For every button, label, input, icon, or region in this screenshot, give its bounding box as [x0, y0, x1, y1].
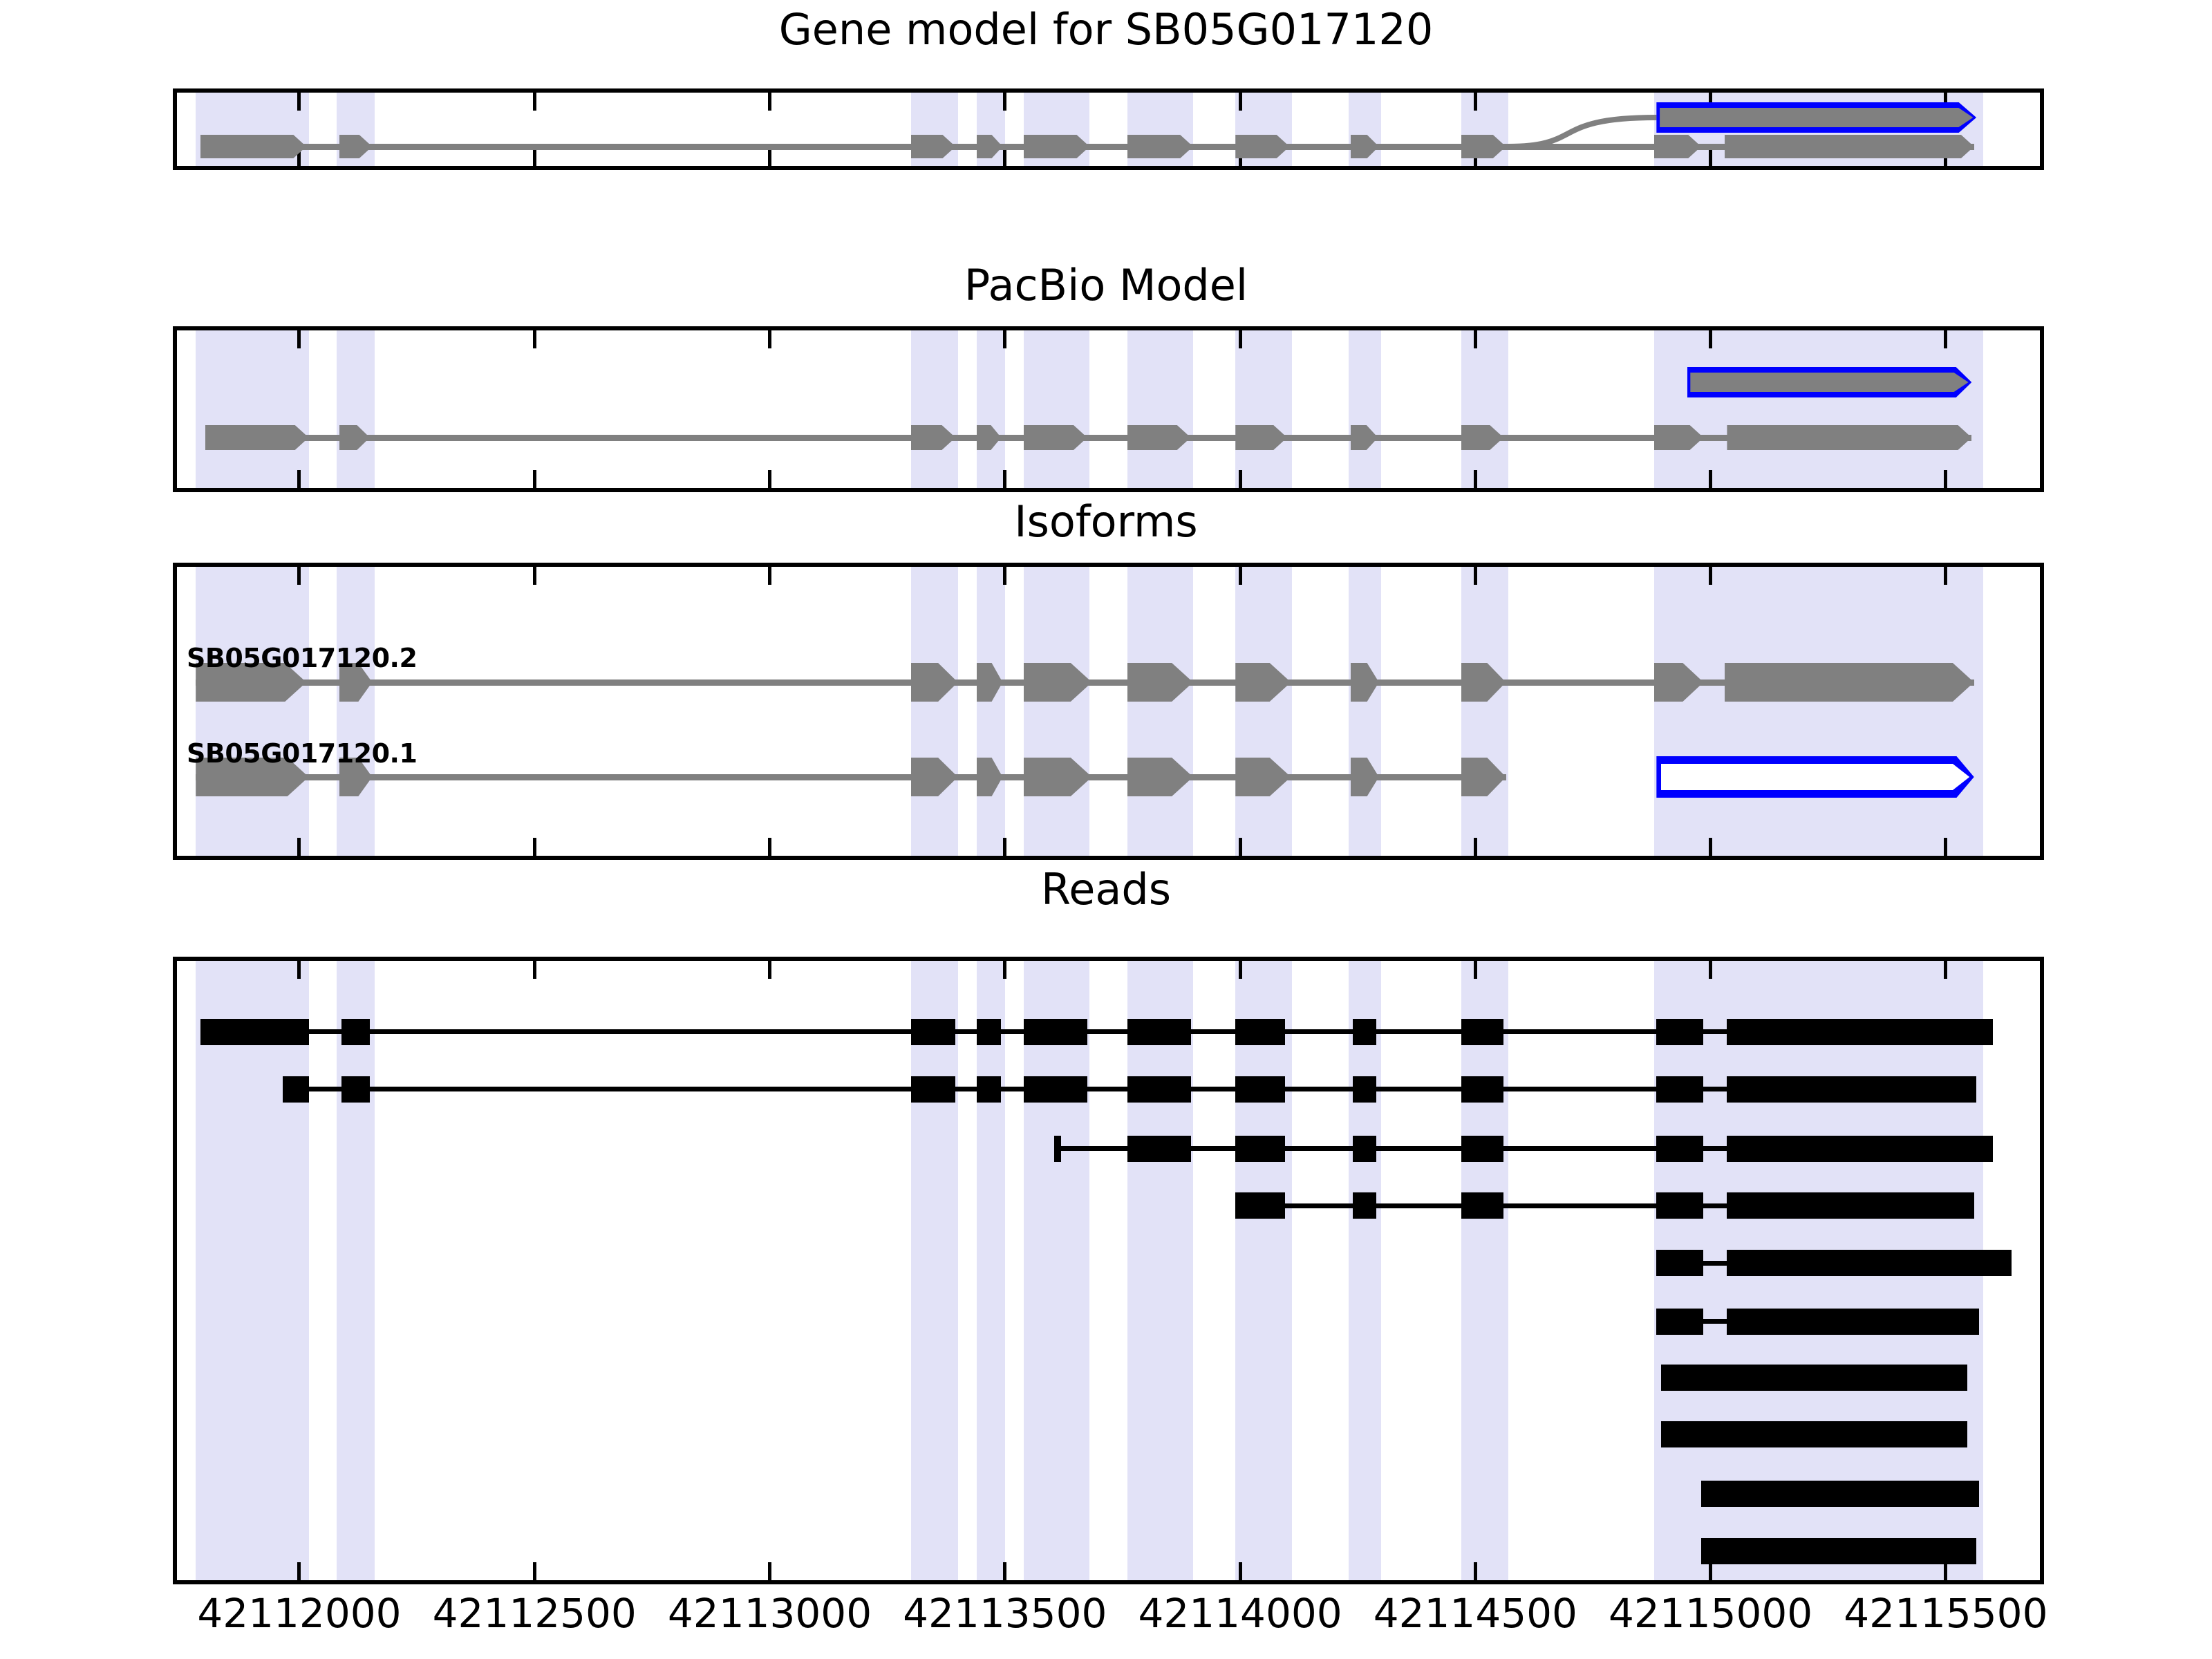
- read-block: [1353, 1076, 1376, 1103]
- highlight-band: [337, 330, 374, 488]
- highlight-band: [337, 567, 374, 856]
- isoform-label: SB05G017120.1: [187, 738, 417, 769]
- highlight-band: [1127, 330, 1193, 488]
- axis-tick-top: [297, 330, 301, 348]
- axis-tick-bottom: [297, 838, 301, 856]
- axis-tick-top: [533, 330, 536, 348]
- panel-title-gene-model: Gene model for SB05G017120: [0, 4, 2212, 55]
- read-block: [1024, 1076, 1087, 1103]
- axis-tick-bottom: [1709, 470, 1712, 488]
- read-block: [1661, 1421, 1967, 1447]
- read-block: [1701, 1481, 1979, 1507]
- highlight-band: [196, 961, 308, 1580]
- x-axis-tick-label: 42112500: [433, 1590, 637, 1637]
- read-block: [1353, 1019, 1376, 1045]
- axis-tick-bottom: [1003, 470, 1006, 488]
- read-block: [1235, 1192, 1284, 1219]
- read-block: [1353, 1192, 1376, 1219]
- axis-tick-top: [297, 961, 301, 979]
- highlight-band: [1461, 330, 1508, 488]
- highlight-band: [1349, 961, 1382, 1580]
- highlight-band: [1461, 567, 1508, 856]
- panel-pacbio-model[interactable]: [173, 326, 2044, 492]
- read-block: [1727, 1076, 1976, 1103]
- axis-tick-top: [1474, 330, 1477, 348]
- highlight-band: [1654, 567, 1983, 856]
- read-block: [1461, 1019, 1503, 1045]
- highlight-band: [196, 567, 308, 856]
- genome-browser-figure: Gene model for SB05G017120 PacBio Model …: [0, 0, 2212, 1659]
- read-block: [911, 1019, 956, 1045]
- axis-tick-top: [533, 567, 536, 585]
- axis-tick-bottom: [1944, 838, 1947, 856]
- orf-inner-fill: [1690, 373, 1968, 392]
- x-axis-tick-label: 42113500: [903, 1590, 1107, 1637]
- axis-tick-bottom: [768, 1562, 771, 1580]
- read-block: [1727, 1309, 1978, 1335]
- read-block: [1235, 1019, 1284, 1045]
- read-block: [1127, 1136, 1191, 1162]
- highlight-band: [977, 330, 1005, 488]
- read-block: [977, 1076, 1001, 1103]
- highlight-band: [337, 961, 374, 1580]
- axis-tick-bottom: [1474, 1562, 1477, 1580]
- highlight-band: [1235, 567, 1292, 856]
- axis-tick-top: [1944, 567, 1947, 585]
- axis-tick-bottom: [1239, 1562, 1242, 1580]
- read-block: [911, 1076, 956, 1103]
- highlight-band: [977, 567, 1005, 856]
- highlight-band: [1461, 961, 1508, 1580]
- x-axis-tick-label: 42114500: [1374, 1590, 1577, 1637]
- axis-tick-bottom: [1474, 838, 1477, 856]
- exon-block: [1127, 135, 1193, 158]
- axis-tick-top: [1474, 567, 1477, 585]
- x-axis-tick-label: 42112000: [197, 1590, 401, 1637]
- highlight-band: [1024, 567, 1089, 856]
- read-block: [1727, 1019, 1993, 1045]
- axis-tick-top: [1944, 330, 1947, 348]
- axis-tick-top: [1944, 961, 1947, 979]
- panel-title-isoforms: Isoforms: [0, 496, 2212, 547]
- axis-tick-top: [1239, 330, 1242, 348]
- axis-tick-bottom: [1709, 838, 1712, 856]
- orf-inner-fill: [1661, 764, 1969, 790]
- exon-block: [1725, 663, 1974, 702]
- read-block: [1661, 1365, 1967, 1391]
- axis-tick-top: [1239, 961, 1242, 979]
- axis-tick-bottom: [1944, 470, 1947, 488]
- axis-tick-top: [1003, 330, 1006, 348]
- panel-title-reads: Reads: [0, 864, 2212, 915]
- x-axis-tick-label: 42113000: [668, 1590, 872, 1637]
- exon-block: [1725, 135, 1974, 158]
- read-block: [1127, 1076, 1191, 1103]
- highlight-band: [1235, 330, 1292, 488]
- highlight-band: [1127, 961, 1193, 1580]
- read-block: [341, 1076, 370, 1103]
- read-block: [1353, 1136, 1376, 1162]
- panel-gene-model[interactable]: [173, 88, 2044, 170]
- read-block: [1656, 1250, 1703, 1276]
- axis-tick-bottom: [1474, 470, 1477, 488]
- axis-tick-bottom: [768, 470, 771, 488]
- intron-backbone: [200, 1029, 1993, 1034]
- read-block: [1701, 1538, 1976, 1564]
- axis-tick-bottom: [1239, 838, 1242, 856]
- axis-tick-top: [1709, 330, 1712, 348]
- axis-tick-top: [1003, 567, 1006, 585]
- read-block: [1727, 1250, 2012, 1276]
- x-axis-tick-label: 42115000: [1609, 1590, 1812, 1637]
- axis-tick-bottom: [297, 470, 301, 488]
- highlight-band: [1024, 330, 1089, 488]
- highlight-band: [977, 961, 1005, 1580]
- read-block: [1656, 1076, 1703, 1103]
- read-block: [1461, 1192, 1503, 1219]
- exon-block: [200, 135, 306, 158]
- axis-tick-bottom: [533, 470, 536, 488]
- read-block: [1656, 1136, 1703, 1162]
- highlight-band: [1349, 330, 1382, 488]
- axis-tick-bottom: [1003, 1562, 1006, 1580]
- read-block: [1656, 1309, 1703, 1335]
- read-block: [283, 1076, 308, 1103]
- highlight-band: [1127, 567, 1193, 856]
- axis-tick-top: [1709, 961, 1712, 979]
- highlight-band: [1024, 961, 1089, 1580]
- panel-reads[interactable]: [173, 957, 2044, 1584]
- read-block: [1461, 1076, 1503, 1103]
- highlight-band: [1349, 567, 1382, 856]
- highlight-band: [1654, 330, 1983, 488]
- read-block: [1727, 1136, 1993, 1162]
- read-block: [1656, 1192, 1703, 1219]
- read-block: [977, 1019, 1001, 1045]
- axis-tick-bottom: [1003, 838, 1006, 856]
- panel-isoforms[interactable]: SB05G017120.2SB05G017120.1: [173, 563, 2044, 860]
- axis-tick-bottom: [768, 838, 771, 856]
- panel-title-pacbio-model: PacBio Model: [0, 260, 2212, 310]
- axis-tick-top: [768, 330, 771, 348]
- intron-backbone: [196, 774, 1506, 780]
- read-block: [1054, 1136, 1061, 1162]
- axis-tick-top: [768, 567, 771, 585]
- read-block: [1727, 1192, 1974, 1219]
- axis-tick-bottom: [533, 838, 536, 856]
- axis-tick-top: [533, 961, 536, 979]
- orf-inner-fill: [1660, 108, 1973, 127]
- axis-tick-top: [1003, 961, 1006, 979]
- x-axis-tick-label: 42115500: [1844, 1590, 2047, 1637]
- axis-tick-bottom: [1709, 1562, 1712, 1580]
- read-block: [1024, 1019, 1087, 1045]
- read-block: [200, 1019, 309, 1045]
- highlight-band: [1235, 961, 1292, 1580]
- intron-backbone: [205, 435, 1971, 441]
- exon-block: [1024, 135, 1089, 158]
- highlight-band: [911, 567, 958, 856]
- axis-tick-top: [1474, 961, 1477, 979]
- axis-tick-top: [1709, 567, 1712, 585]
- read-block: [341, 1019, 370, 1045]
- x-axis-tick-label: 42114000: [1138, 1590, 1342, 1637]
- read-block: [1127, 1019, 1191, 1045]
- highlight-band: [196, 330, 308, 488]
- axis-tick-bottom: [1944, 1562, 1947, 1580]
- highlight-band: [911, 961, 958, 1580]
- axis-tick-bottom: [1239, 470, 1242, 488]
- read-block: [1656, 1019, 1703, 1045]
- exon-block: [205, 425, 309, 450]
- isoform-label: SB05G017120.2: [187, 643, 417, 673]
- axis-tick-top: [768, 961, 771, 979]
- axis-tick-bottom: [297, 1562, 301, 1580]
- highlight-band: [911, 330, 958, 488]
- axis-tick-top: [1239, 567, 1242, 585]
- read-block: [1461, 1136, 1503, 1162]
- read-block: [1235, 1076, 1284, 1103]
- exon-block: [1727, 425, 1971, 450]
- read-block: [1235, 1136, 1284, 1162]
- axis-tick-top: [297, 567, 301, 585]
- axis-tick-bottom: [533, 1562, 536, 1580]
